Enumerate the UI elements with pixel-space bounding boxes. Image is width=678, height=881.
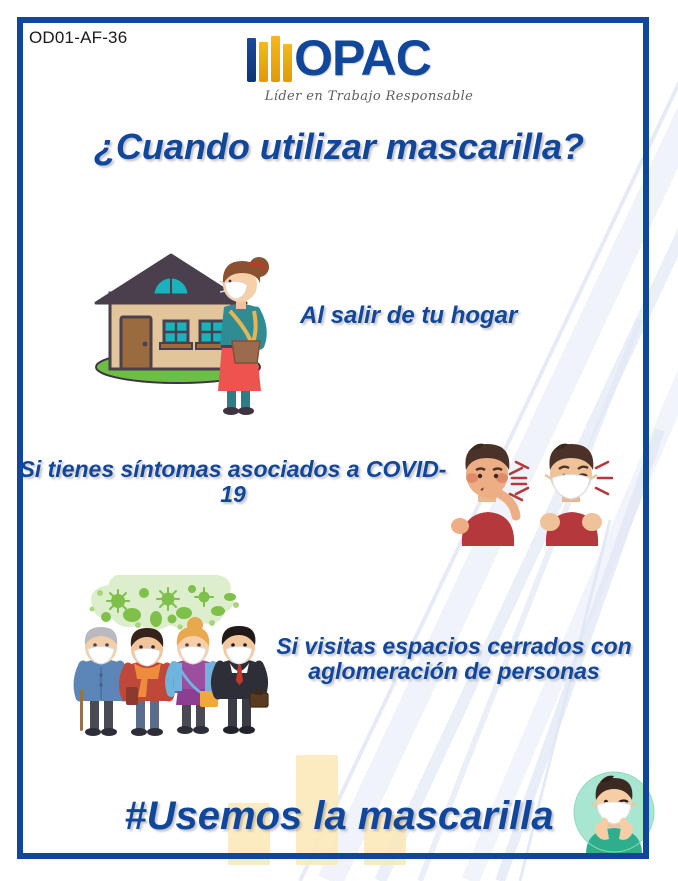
crowd-with-germ-cloud-icon bbox=[72, 575, 272, 745]
logo-tagline: Líder en Trabajo Responsable bbox=[0, 89, 678, 104]
house-with-masked-woman-icon bbox=[88, 245, 288, 430]
logo-wordmark: OPAC bbox=[294, 35, 431, 83]
logo-bar bbox=[259, 42, 268, 82]
poster: OD01-AF-36 OPAC Líder en Trabajo Respons… bbox=[0, 0, 678, 881]
page-title: ¿Cuando utilizar mascarilla? bbox=[0, 128, 678, 167]
opac-logo: OPAC Líder en Trabajo Responsable bbox=[0, 30, 678, 104]
logo-row: OPAC bbox=[247, 30, 431, 82]
caption-espacios-cerrados: Si visitas espacios cerrados con aglomer… bbox=[256, 634, 652, 684]
logo-bar bbox=[283, 44, 292, 82]
logo-bars-icon bbox=[247, 34, 292, 82]
logo-bar bbox=[271, 36, 280, 82]
caption-sintomas-covid: Si tienes síntomas asociados a COVID-19 bbox=[18, 457, 448, 507]
caption-al-salir-de-tu-hogar: Al salir de tu hogar bbox=[300, 303, 517, 329]
coughing-sneezing-people-icon bbox=[448, 434, 628, 551]
logo-bar bbox=[247, 38, 256, 82]
masked-person-thumbs-up-icon bbox=[572, 770, 656, 859]
